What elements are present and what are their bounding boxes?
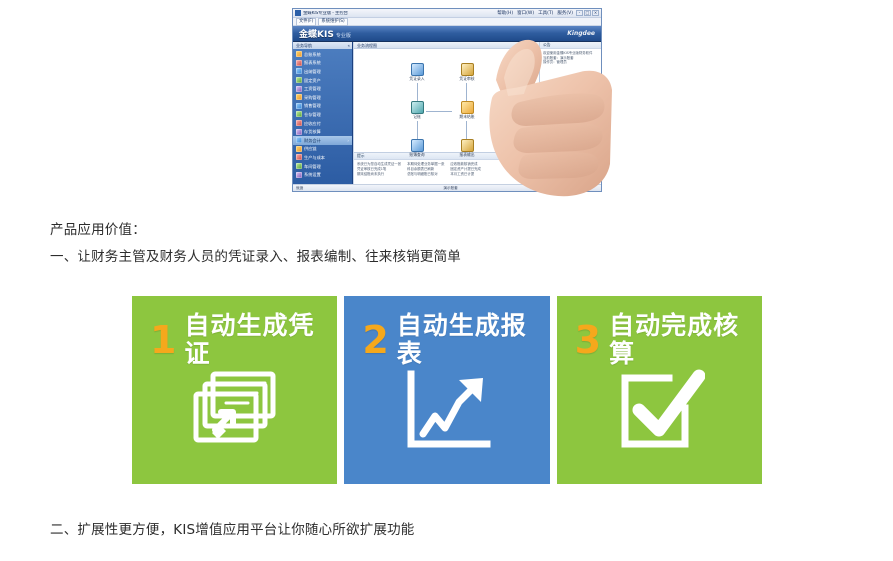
- flow-node-1[interactable]: 凭证录入: [400, 63, 434, 82]
- hero-screenshot: 金蝶KIS专业版 - 主控台 帮助(H) 窗口(W) 工具(T) 服务(V) -…: [292, 8, 604, 194]
- chevron-right-icon: ›: [347, 138, 349, 143]
- nav-module-icon: [296, 120, 302, 126]
- stacked-documents-arrow-icon: [132, 368, 337, 454]
- value-panel-title: 自动生成凭证: [184, 312, 337, 368]
- announcement-panel: 公告 欢迎使用金蝶KIS专业版财务软件当前账套：演示账套操作员：管理员: [539, 42, 601, 186]
- nav-item-15[interactable]: 系统设置: [293, 170, 352, 179]
- report-icon: [461, 139, 474, 152]
- window-body: 业务导航 « 总账系统报表系统出纳管理固定资产工资管理采购管理销售管理仓存管理应…: [293, 42, 601, 186]
- kingdee-logo: Kingdee: [567, 30, 595, 37]
- ledger-icon: [411, 139, 424, 152]
- nav-item-13[interactable]: 生产与成本: [293, 153, 352, 162]
- nav-item-label: 系统设置: [304, 172, 321, 177]
- flow-node-label: 记账: [400, 115, 434, 120]
- window-title: 金蝶KIS专业版 - 主控台: [303, 11, 497, 16]
- nav-module-icon: [296, 60, 302, 66]
- flow-connector-vertical-right-a: [466, 83, 467, 103]
- nav-item-3[interactable]: 出纳管理: [293, 67, 352, 76]
- flow-node-5[interactable]: 账簿查询: [400, 139, 434, 158]
- message-log-row: 本月工资已计提: [450, 172, 481, 177]
- brand-name: 金蝶KIS: [299, 27, 334, 40]
- value-panel-2: 2自动生成报表: [344, 296, 549, 484]
- message-log-column-3: 应收账款核销完成固定资产计提已完成本月工资已计提: [450, 162, 481, 177]
- flow-connector-vertical-right-b: [466, 121, 467, 139]
- nav-header-label: 业务导航: [296, 42, 312, 49]
- value-panel-title: 自动完成核算: [609, 312, 762, 368]
- nav-item-1[interactable]: 总账系统: [293, 50, 352, 59]
- nav-item-label: 存货核算: [304, 129, 321, 134]
- nav-module-icon: [296, 94, 302, 100]
- nav-item-label: 报表系统: [304, 60, 321, 65]
- closing-icon: [461, 101, 474, 114]
- workspace-panel: 业务流程图 凭证录入凭证审核记账期末结账账簿查询报表输出 提示 系统已为您自动生…: [353, 42, 539, 186]
- nav-item-label: 出纳管理: [304, 69, 321, 74]
- message-log-pane: 提示 系统已为您自动生成凭证一张凭证审核已完成1笔期末结账尚未执行本期待处理业务…: [354, 152, 539, 186]
- window-menu-right: 帮助(H) 窗口(W) 工具(T) 服务(V): [497, 10, 573, 16]
- announcement-line: 欢迎使用金蝶KIS专业版财务软件: [543, 51, 598, 56]
- nav-module-icon: [296, 86, 302, 92]
- brand-banner: 金蝶KIS 专业版 Kingdee: [293, 26, 601, 42]
- workspace-tab[interactable]: 业务流程图: [354, 42, 539, 49]
- message-log-header: 提示: [354, 153, 539, 160]
- announcement-line: 操作员：管理员: [543, 60, 598, 65]
- maximize-icon[interactable]: □: [584, 10, 591, 16]
- flow-node-label: 凭证审核: [450, 77, 484, 82]
- flow-node-2[interactable]: 凭证审核: [450, 63, 484, 82]
- nav-item-9[interactable]: 应收应付: [293, 119, 352, 128]
- value-panel-number: 3: [575, 323, 601, 357]
- announcement-header: 公告: [540, 42, 601, 49]
- nav-item-7[interactable]: 销售管理: [293, 102, 352, 111]
- nav-item-label: 财务会计: [304, 138, 321, 143]
- flow-node-label: 凭证录入: [400, 77, 434, 82]
- value-panel-number: 1: [150, 323, 176, 357]
- message-log-row: 总账与明细账已核对: [407, 172, 444, 177]
- menu-tools[interactable]: 工具(T): [538, 10, 553, 16]
- flow-connector-vertical-left-a: [417, 83, 418, 103]
- value-panel-heading: 3自动完成核算: [557, 296, 762, 368]
- message-log-column-1: 系统已为您自动生成凭证一张凭证审核已完成1笔期末结账尚未执行: [357, 162, 401, 177]
- nav-item-label: 采购管理: [304, 95, 321, 100]
- window-menu-bar: 文件(F) 系统维护(S): [293, 18, 601, 26]
- brand-edition: 专业版: [336, 32, 351, 39]
- nav-module-icon: [296, 154, 302, 160]
- menu-item-system[interactable]: 系统维护(S): [318, 18, 347, 26]
- checkbox-check-icon: [557, 368, 762, 454]
- nav-item-14[interactable]: 车间管理: [293, 162, 352, 171]
- menu-item-file[interactable]: 文件(F): [296, 18, 316, 26]
- nav-item-6[interactable]: 采购管理: [293, 93, 352, 102]
- announcement-body: 欢迎使用金蝶KIS专业版财务软件当前账套：演示账套操作员：管理员: [540, 49, 601, 67]
- nav-item-list: 总账系统报表系统出纳管理固定资产工资管理采购管理销售管理仓存管理应收应付存货核算…: [293, 49, 352, 179]
- menu-window[interactable]: 窗口(W): [517, 10, 534, 16]
- flow-node-4[interactable]: 期末结账: [450, 101, 484, 120]
- business-flow-diagram: 凭证录入凭证审核记账期末结账账簿查询报表输出: [354, 49, 539, 152]
- flow-connector-vertical-left-b: [417, 121, 418, 139]
- nav-item-label: 车间管理: [304, 164, 321, 169]
- status-bar: 就绪 演示账套: [293, 184, 601, 191]
- nav-module-icon: [296, 146, 302, 152]
- nav-item-11[interactable]: 财务会计›: [293, 136, 352, 145]
- nav-module-icon: [296, 111, 302, 117]
- nav-item-label: 固定资产: [304, 78, 321, 83]
- nav-module-icon: [296, 137, 302, 143]
- value-panel-title: 自动生成报表: [397, 312, 550, 368]
- value-point-one: 一、让财务主管及财务人员的凭证录入、报表编制、往来核销更简单: [50, 248, 461, 267]
- nav-item-label: 总账系统: [304, 52, 321, 57]
- flow-node-label: 账簿查询: [400, 153, 434, 158]
- nav-item-label: 供应链: [304, 146, 317, 151]
- nav-module-icon: [296, 163, 302, 169]
- section-heading: 产品应用价值：: [50, 221, 146, 240]
- value-panel-3: 3自动完成核算: [557, 296, 762, 484]
- nav-item-10[interactable]: 存货核算: [293, 127, 352, 136]
- nav-item-5[interactable]: 工资管理: [293, 84, 352, 93]
- value-panel-heading: 1自动生成凭证: [132, 296, 337, 368]
- nav-item-label: 工资管理: [304, 86, 321, 91]
- nav-module-icon: [296, 68, 302, 74]
- nav-module-icon: [296, 51, 302, 57]
- left-navigation-panel: 业务导航 « 总账系统报表系统出纳管理固定资产工资管理采购管理销售管理仓存管理应…: [293, 42, 353, 186]
- nav-item-label: 销售管理: [304, 103, 321, 108]
- value-panel-heading: 2自动生成报表: [344, 296, 549, 368]
- message-log-row: 期末结账尚未执行: [357, 172, 401, 177]
- status-left: 就绪: [296, 186, 303, 191]
- chevron-left-icon[interactable]: «: [348, 42, 350, 49]
- close-icon[interactable]: ×: [592, 10, 599, 16]
- nav-item-label: 应收应付: [304, 121, 321, 126]
- nav-module-icon: [296, 103, 302, 109]
- growth-chart-icon: [344, 368, 549, 454]
- value-point-two: 二、扩展性更方便，KIS增值应用平台让你随心所欲扩展功能: [50, 521, 415, 540]
- value-panel-group: 1自动生成凭证 2自动生成报表 3自动完成核算: [132, 296, 762, 484]
- nav-item-label: 生产与成本: [304, 155, 325, 160]
- message-log-grid: 系统已为您自动生成凭证一张凭证审核已完成1笔期末结账尚未执行本期待处理业务单据一…: [354, 160, 539, 179]
- nav-item-12[interactable]: 供应链: [293, 145, 352, 154]
- nav-item-2[interactable]: 报表系统: [293, 59, 352, 68]
- flow-node-label: 期末结账: [450, 115, 484, 120]
- nav-header: 业务导航 «: [293, 42, 352, 49]
- value-panel-1: 1自动生成凭证: [132, 296, 337, 484]
- flow-node-6[interactable]: 报表输出: [450, 139, 484, 158]
- nav-item-4[interactable]: 固定资产: [293, 76, 352, 85]
- menu-service[interactable]: 服务(V): [557, 10, 573, 16]
- message-log-column-2: 本期待处理业务单据一张科目余额表已刷新总账与明细账已核对: [407, 162, 444, 177]
- nav-module-icon: [296, 77, 302, 83]
- post-icon: [411, 101, 424, 114]
- kingdee-app-icon: [295, 10, 301, 16]
- status-center: 演示账套: [443, 186, 457, 191]
- window-controls: - □ ×: [576, 10, 599, 16]
- flow-node-label: 报表输出: [450, 153, 484, 158]
- brand-lockup: 金蝶KIS 专业版: [299, 27, 351, 40]
- nav-module-icon: [296, 129, 302, 135]
- menu-help[interactable]: 帮助(H): [497, 10, 513, 16]
- nav-module-icon: [296, 172, 302, 178]
- voucher-icon: [411, 63, 424, 76]
- value-panel-number: 2: [362, 323, 388, 357]
- flow-node-3[interactable]: 记账: [400, 101, 434, 120]
- minimize-icon[interactable]: -: [576, 10, 583, 16]
- nav-item-label: 仓存管理: [304, 112, 321, 117]
- kis-application-window: 金蝶KIS专业版 - 主控台 帮助(H) 窗口(W) 工具(T) 服务(V) -…: [292, 8, 602, 192]
- audit-icon: [461, 63, 474, 76]
- nav-item-8[interactable]: 仓存管理: [293, 110, 352, 119]
